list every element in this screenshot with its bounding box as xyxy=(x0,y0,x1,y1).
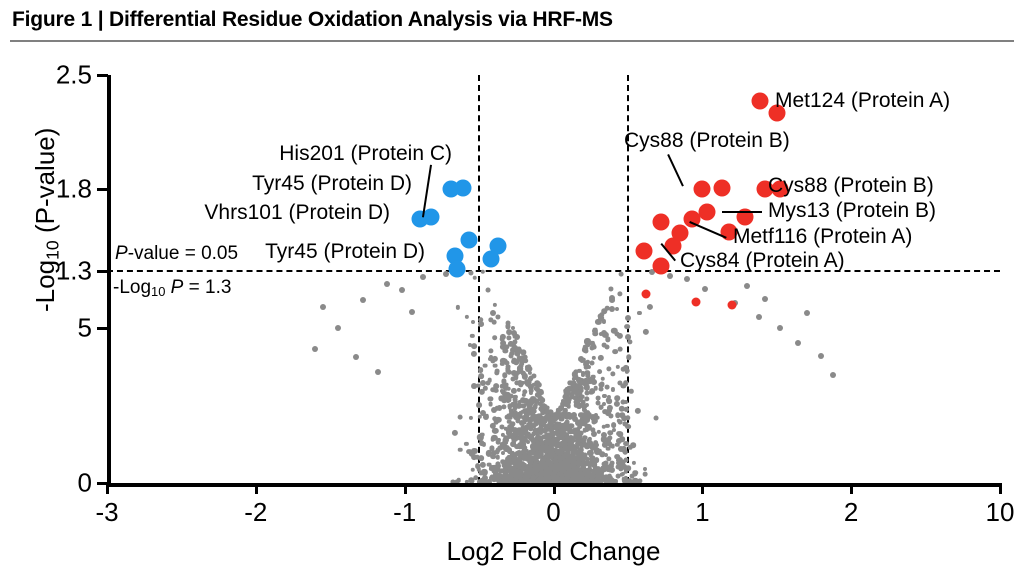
data-point xyxy=(567,404,572,409)
data-point xyxy=(478,373,484,379)
data-point xyxy=(611,423,617,429)
data-point xyxy=(524,475,529,480)
data-point xyxy=(513,464,518,469)
x-axis-tick-label: -1 xyxy=(393,497,416,528)
data-point xyxy=(579,462,584,467)
header-divider xyxy=(10,40,1014,42)
data-point xyxy=(590,360,595,365)
data-point xyxy=(480,462,486,468)
data-point xyxy=(624,324,630,330)
data-point xyxy=(501,451,505,455)
data-point xyxy=(486,288,491,293)
data-point xyxy=(585,372,591,378)
figure-title: Figure 1 | Differential Residue Oxidatio… xyxy=(12,8,613,32)
annotation-his201: His201 (Protein C) xyxy=(279,142,452,166)
annotation-cys88-upper: Cys88 (Protein B) xyxy=(624,129,790,153)
x-axis-tick-label: -3 xyxy=(95,497,118,528)
data-point-downregulated xyxy=(482,251,499,268)
data-point xyxy=(548,417,553,422)
data-point-upregulated xyxy=(728,301,737,310)
data-point xyxy=(475,464,481,470)
data-point xyxy=(458,415,463,420)
data-point xyxy=(611,387,615,391)
data-point xyxy=(465,315,469,319)
data-point xyxy=(559,450,564,455)
annotation-mys13: Mys13 (Protein B) xyxy=(768,199,936,223)
log-threshold-note: -Log10 P = 1.3 xyxy=(113,277,231,299)
data-point xyxy=(545,440,551,446)
data-point xyxy=(567,445,573,451)
data-point xyxy=(605,410,611,416)
leader-mys13 xyxy=(722,211,762,213)
y-axis-tick xyxy=(97,188,108,191)
y-axis-tick xyxy=(97,482,108,485)
data-point xyxy=(620,399,625,404)
data-point xyxy=(512,401,517,406)
data-point xyxy=(585,390,590,395)
x-axis-tick xyxy=(850,483,853,494)
data-point xyxy=(570,462,576,468)
data-point xyxy=(605,424,609,428)
data-point-upregulated xyxy=(698,204,715,221)
x-axis-tick-label: 10 xyxy=(986,497,1015,528)
data-point xyxy=(490,437,495,442)
data-point xyxy=(478,455,484,461)
data-point xyxy=(830,372,836,378)
data-point xyxy=(312,346,318,352)
data-point xyxy=(602,343,607,348)
data-point xyxy=(495,455,500,460)
y-axis-tick-label: 0 xyxy=(78,468,92,499)
data-point xyxy=(494,468,499,473)
data-point xyxy=(513,359,519,365)
data-point xyxy=(596,449,602,455)
data-point xyxy=(493,383,499,389)
data-point xyxy=(476,383,481,388)
data-point xyxy=(511,370,517,376)
data-point xyxy=(399,287,405,293)
data-point xyxy=(320,304,326,310)
data-point xyxy=(584,472,590,478)
y-axis-label: -Log10 (P-value) xyxy=(30,127,63,311)
data-point xyxy=(600,376,605,381)
data-point xyxy=(624,457,629,462)
x-axis-tick xyxy=(999,483,1002,494)
data-point xyxy=(599,386,604,391)
data-point xyxy=(335,325,341,331)
data-point xyxy=(553,416,558,421)
data-point xyxy=(629,389,633,393)
data-point xyxy=(502,477,507,482)
data-point xyxy=(561,477,566,482)
data-point xyxy=(483,386,487,390)
data-point xyxy=(360,297,366,303)
data-point xyxy=(609,306,615,312)
data-point xyxy=(507,335,512,340)
data-point xyxy=(492,363,497,368)
data-point xyxy=(544,446,550,452)
data-point xyxy=(488,401,493,406)
data-point xyxy=(643,467,647,471)
data-point xyxy=(589,388,595,394)
data-point xyxy=(633,470,639,476)
data-point xyxy=(615,474,620,479)
data-point xyxy=(591,355,595,359)
data-point xyxy=(609,286,614,291)
volcano-plot: -3-2-1012102.51.81.350Log2 Fold Change-L… xyxy=(0,46,1024,559)
data-point xyxy=(520,397,526,403)
data-point xyxy=(501,397,507,403)
data-point xyxy=(580,421,586,427)
data-point xyxy=(500,337,505,342)
data-point xyxy=(578,412,584,418)
data-point xyxy=(471,343,477,349)
pvalue-threshold-note: P-value = 0.05 xyxy=(115,243,238,265)
annotation-cys84: Cys84 (Protein A) xyxy=(680,249,845,273)
data-point xyxy=(795,340,801,346)
annotation-tyr45-lower: Tyr45 (Protein D) xyxy=(265,240,425,264)
data-point xyxy=(495,406,500,411)
data-point xyxy=(488,348,493,353)
data-point xyxy=(502,440,508,446)
data-point-upregulated xyxy=(694,181,711,198)
data-point xyxy=(581,371,585,375)
data-point xyxy=(585,444,591,450)
data-point xyxy=(598,355,604,361)
data-point-upregulated xyxy=(641,289,650,298)
x-axis-tick xyxy=(255,483,258,494)
data-point xyxy=(494,388,499,393)
data-point xyxy=(531,407,537,413)
data-point xyxy=(573,429,578,434)
data-point xyxy=(756,314,762,320)
data-point xyxy=(492,356,498,362)
data-point-downregulated xyxy=(448,261,465,278)
data-point xyxy=(647,304,653,310)
data-point xyxy=(500,459,506,465)
data-point xyxy=(549,431,555,437)
data-point xyxy=(621,416,627,422)
data-point xyxy=(635,408,641,414)
data-point xyxy=(618,291,623,296)
data-point xyxy=(564,415,569,420)
x-axis-tick-label: 2 xyxy=(844,497,858,528)
data-point xyxy=(605,385,610,390)
data-point xyxy=(587,461,592,466)
data-point xyxy=(492,320,497,325)
data-point xyxy=(501,390,506,395)
x-axis-tick xyxy=(553,483,556,494)
data-point xyxy=(540,441,545,446)
data-point xyxy=(597,369,603,375)
x-axis-tick-label: -2 xyxy=(244,497,267,528)
x-axis-tick xyxy=(701,483,704,494)
data-point-upregulated xyxy=(636,243,653,260)
data-point xyxy=(464,442,468,446)
data-point xyxy=(534,460,539,465)
y-axis-tick xyxy=(97,270,108,273)
data-point xyxy=(492,428,498,434)
annotation-marker-met124 xyxy=(752,93,769,110)
y-axis-tick-label: 5 xyxy=(78,312,92,343)
data-point xyxy=(488,396,493,401)
data-point xyxy=(353,354,359,360)
data-point xyxy=(804,310,810,316)
y-axis-tick xyxy=(97,327,108,330)
annotation-cys88-right: Cys88 (Protein B) xyxy=(768,174,934,198)
data-point xyxy=(548,452,554,458)
data-point xyxy=(630,443,636,449)
x-axis-tick-label: 0 xyxy=(546,497,560,528)
data-point xyxy=(777,325,783,331)
x-axis-label: Log2 Fold Change xyxy=(447,536,661,567)
data-point xyxy=(503,467,508,472)
data-point xyxy=(598,314,603,319)
data-point xyxy=(684,276,690,282)
data-point-upregulated xyxy=(652,257,669,274)
data-point xyxy=(624,423,629,428)
data-point xyxy=(654,415,659,420)
data-point xyxy=(626,355,631,360)
data-point xyxy=(616,464,621,469)
data-point xyxy=(632,461,636,465)
data-point xyxy=(607,430,612,435)
data-point xyxy=(609,295,615,301)
data-point xyxy=(516,450,522,456)
data-point xyxy=(591,375,596,380)
data-point xyxy=(744,283,750,289)
data-point xyxy=(455,305,459,309)
y-axis-tick xyxy=(97,74,108,77)
data-point xyxy=(625,466,631,472)
data-point xyxy=(483,363,488,368)
data-point xyxy=(606,398,612,404)
data-point xyxy=(625,315,631,321)
plot-canvas: -3-2-1012102.51.81.350Log2 Fold Change-L… xyxy=(0,46,1024,559)
x-axis-tick xyxy=(404,483,407,494)
data-point xyxy=(481,442,485,446)
data-point xyxy=(627,340,632,345)
data-point xyxy=(557,422,562,427)
data-point xyxy=(590,416,595,421)
data-point-upregulated xyxy=(692,297,701,306)
data-point xyxy=(492,335,498,341)
data-point xyxy=(592,332,597,337)
data-point xyxy=(568,423,574,429)
annotation-vhrs101: Vhrs101 (Protein D) xyxy=(204,201,390,225)
data-point xyxy=(504,414,509,419)
data-point xyxy=(530,455,535,460)
data-point xyxy=(546,423,552,429)
data-point xyxy=(524,432,530,438)
y-axis xyxy=(107,75,111,483)
data-point xyxy=(580,394,585,399)
x-axis-tick-label: 1 xyxy=(695,497,709,528)
data-point xyxy=(593,440,599,446)
data-point xyxy=(582,435,588,441)
data-point xyxy=(554,438,559,443)
data-point xyxy=(595,396,600,401)
data-point xyxy=(637,311,641,315)
data-point xyxy=(818,353,824,359)
data-point-downregulated xyxy=(460,231,477,248)
data-point xyxy=(619,272,624,277)
data-point xyxy=(384,281,390,287)
data-point xyxy=(526,468,531,473)
y-axis-tick-label: 2.5 xyxy=(56,60,92,91)
data-point xyxy=(667,273,673,279)
data-point xyxy=(625,368,630,373)
data-point xyxy=(616,365,620,369)
data-point xyxy=(529,391,533,395)
data-point xyxy=(471,351,477,357)
data-point xyxy=(508,468,514,474)
data-point xyxy=(375,369,381,375)
figure-header: Figure 1 | Differential Residue Oxidatio… xyxy=(0,0,1024,46)
data-point-upregulated xyxy=(713,179,730,196)
data-point xyxy=(495,315,500,320)
data-point xyxy=(543,476,548,481)
data-point xyxy=(478,367,484,373)
data-point xyxy=(610,371,615,376)
data-point xyxy=(601,330,607,336)
data-point xyxy=(471,320,475,324)
data-point xyxy=(702,286,708,292)
data-point xyxy=(473,275,478,280)
data-point xyxy=(487,378,492,383)
data-point xyxy=(526,408,531,413)
data-point xyxy=(504,360,509,365)
data-point xyxy=(504,382,509,387)
data-point xyxy=(420,274,426,280)
data-point xyxy=(556,467,561,472)
data-point-downregulated xyxy=(423,208,440,225)
data-point xyxy=(601,466,607,472)
data-point xyxy=(762,296,768,302)
annotation-met124: Met124 (Protein A) xyxy=(775,89,950,113)
data-point xyxy=(469,416,473,420)
data-point xyxy=(468,270,473,275)
data-point xyxy=(409,309,415,315)
data-point xyxy=(602,319,606,323)
data-point xyxy=(471,468,476,473)
data-point xyxy=(609,461,614,466)
data-point-upregulated xyxy=(652,213,669,230)
data-point xyxy=(458,447,463,452)
data-point xyxy=(624,441,630,447)
data-point xyxy=(483,470,488,475)
data-point-downregulated xyxy=(454,179,471,196)
annotation-metf116: Metf116 (Protein A) xyxy=(733,225,912,249)
data-point xyxy=(595,401,600,406)
data-point xyxy=(452,430,458,436)
data-point xyxy=(599,381,604,386)
data-point xyxy=(506,329,512,335)
data-point xyxy=(643,329,649,335)
data-point xyxy=(495,369,500,374)
data-point xyxy=(522,389,527,394)
data-point xyxy=(618,347,623,352)
annotation-tyr45-upper: Tyr45 (Protein D) xyxy=(252,172,412,196)
data-point xyxy=(476,402,482,408)
data-point xyxy=(470,334,474,338)
data-point xyxy=(643,472,648,477)
data-point xyxy=(493,303,497,307)
data-point xyxy=(516,388,520,392)
data-point xyxy=(624,407,628,411)
data-point xyxy=(481,270,485,274)
